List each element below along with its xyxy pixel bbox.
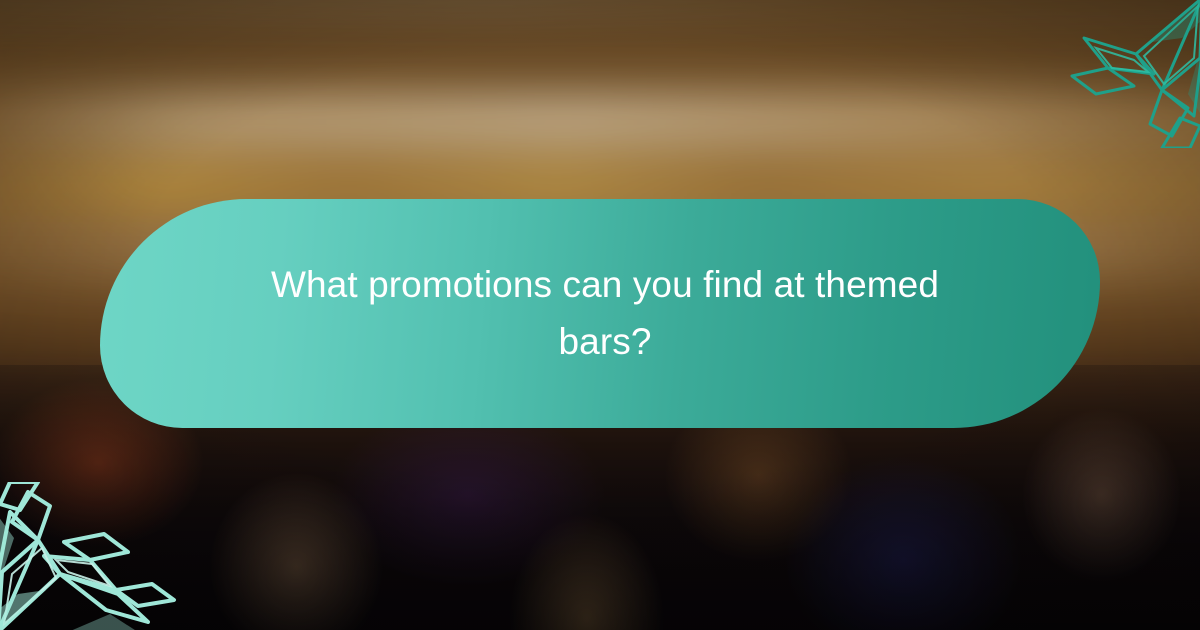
leaf-flourish-icon-bottom-left	[0, 482, 188, 630]
title-banner: What promotions can you find at themed b…	[100, 199, 1100, 428]
page-title: What promotions can you find at themed b…	[255, 257, 955, 369]
leaf-flourish-icon-top-right	[1012, 0, 1200, 148]
social-share-card: What promotions can you find at themed b…	[0, 0, 1200, 630]
